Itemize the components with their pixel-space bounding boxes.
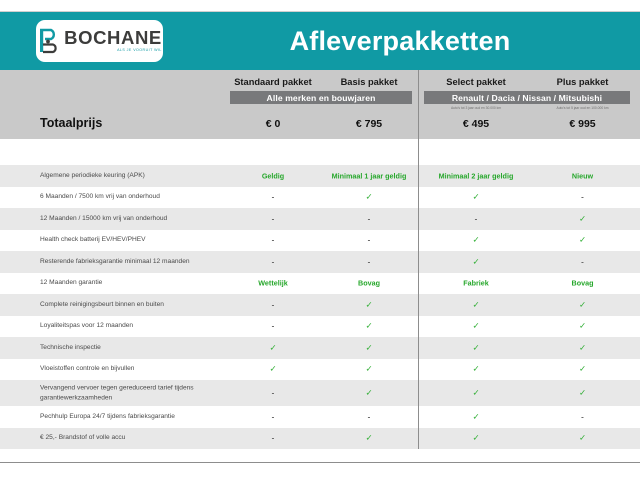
cell-standaard: - xyxy=(225,193,321,202)
cell-select: - xyxy=(422,214,530,223)
logo-wordmark: BOCHANE xyxy=(64,29,162,48)
cell-basis: Minimaal 1 jaar geldig xyxy=(321,171,417,180)
row-label: Loyaliteitspas voor 12 maanden xyxy=(40,321,133,331)
table-row: Technische inspectie✓✓✓✓ xyxy=(0,337,640,359)
cell-basis: Bovag xyxy=(321,279,417,288)
row-label: Health check batterij EV/HEV/PHEV xyxy=(40,235,146,245)
row-label: Resterende fabrieksgarantie minimaal 12 … xyxy=(40,257,190,267)
table-row: Loyaliteitspas voor 12 maanden-✓✓✓ xyxy=(0,316,640,338)
cell-standaard: - xyxy=(225,300,321,309)
cell-standaard: - xyxy=(225,214,321,223)
table-row: Vervangend vervoer tegen gereduceerd tar… xyxy=(0,380,640,406)
table-row: Complete reinigingsbeurt binnen en buite… xyxy=(0,294,640,316)
cell-basis: - xyxy=(321,236,417,245)
table-row: 6 Maanden / 7500 km vrij van onderhoud-✓… xyxy=(0,187,640,209)
cell-standaard: ✓ xyxy=(225,342,321,353)
cell-plus: - xyxy=(530,193,635,202)
cell-select: Minimaal 2 jaar geldig xyxy=(422,171,530,180)
column-note-select: Auto's tot 3 jaar oud en 30.000 km xyxy=(422,106,530,110)
cell-standaard: - xyxy=(225,434,321,443)
row-label: Technische inspectie xyxy=(40,343,101,353)
bochane-mark-icon xyxy=(37,28,59,54)
row-label: Complete reinigingsbeurt binnen en buite… xyxy=(40,300,164,310)
cell-standaard: Geldig xyxy=(225,171,321,180)
logo-tagline: ALS JE VOORUIT WIL xyxy=(117,49,162,53)
totaalprijs-select: € 495 xyxy=(422,118,530,130)
column-header-basis: Basis pakket xyxy=(321,77,417,87)
table-row: Vloeistoffen controle en bijvullen✓✓✓✓ xyxy=(0,359,640,381)
table-row: Pechhulp Europa 24/7 tijdens fabrieksgar… xyxy=(0,406,640,428)
cell-select: Fabriek xyxy=(422,279,530,288)
cell-plus: ✓ xyxy=(530,235,635,246)
page-root: BOCHANE ALS JE VOORUIT WIL Afleverpakket… xyxy=(0,0,640,480)
column-header-select: Select pakket xyxy=(422,77,530,87)
column-note-plus: Auto's tot 5 jaar oud en 100.000 km xyxy=(530,106,635,110)
row-label: Algemene periodieke keuring (APK) xyxy=(40,171,145,181)
column-header-band: Standaard pakket Basis pakket Select pak… xyxy=(0,70,640,139)
group-divider xyxy=(418,70,419,139)
cell-basis: - xyxy=(321,214,417,223)
cell-plus: - xyxy=(530,257,635,266)
table-row: Resterende fabrieksgarantie minimaal 12 … xyxy=(0,251,640,273)
totaalprijs-plus: € 995 xyxy=(530,118,635,130)
sheet-footer xyxy=(0,449,640,463)
group-divider-spacer xyxy=(418,139,419,165)
cell-select: ✓ xyxy=(422,342,530,353)
cell-basis: ✓ xyxy=(321,321,417,332)
group-divider-rows xyxy=(418,165,419,449)
page-title: Afleverpakketten xyxy=(160,26,640,57)
totaalprijs-basis: € 795 xyxy=(321,118,417,130)
totaalprijs-label: Totaalprijs xyxy=(40,116,102,130)
cell-select: ✓ xyxy=(422,411,530,422)
cell-select: ✓ xyxy=(422,388,530,399)
pricing-sheet: BOCHANE ALS JE VOORUIT WIL Afleverpakket… xyxy=(0,11,640,463)
totaalprijs-standaard: € 0 xyxy=(225,118,321,130)
cell-basis: - xyxy=(321,412,417,421)
band-spacer xyxy=(0,139,640,165)
cell-basis: - xyxy=(321,257,417,266)
cell-basis: ✓ xyxy=(321,192,417,203)
cell-standaard: Wettelijk xyxy=(225,279,321,288)
cell-basis: ✓ xyxy=(321,433,417,444)
cell-plus: ✓ xyxy=(530,342,635,353)
cell-basis: ✓ xyxy=(321,388,417,399)
cell-standaard: - xyxy=(225,322,321,331)
cell-plus: ✓ xyxy=(530,321,635,332)
cell-plus: ✓ xyxy=(530,433,635,444)
cell-select: ✓ xyxy=(422,433,530,444)
table-row: 12 Maanden garantieWettelijkBovagFabriek… xyxy=(0,273,640,295)
table-row: Health check batterij EV/HEV/PHEV--✓✓ xyxy=(0,230,640,252)
cell-select: ✓ xyxy=(422,364,530,375)
row-label: 12 Maanden / 15000 km vrij van onderhoud xyxy=(40,214,167,224)
table-row: € 25,- Brandstof of volle accu-✓✓✓ xyxy=(0,428,640,450)
cell-standaard: ✓ xyxy=(225,364,321,375)
row-label: Vloeistoffen controle en bijvullen xyxy=(40,364,134,374)
cell-plus: ✓ xyxy=(530,388,635,399)
cell-select: ✓ xyxy=(422,256,530,267)
group-bar-renault-dacia-nissan-mitsubishi: Renault / Dacia / Nissan / Mitsubishi xyxy=(424,91,630,104)
logo: BOCHANE ALS JE VOORUIT WIL xyxy=(36,20,163,62)
cell-basis: ✓ xyxy=(321,364,417,375)
row-label: 12 Maanden garantie xyxy=(40,278,102,288)
cell-select: ✓ xyxy=(422,192,530,203)
cell-plus: Bovag xyxy=(530,279,635,288)
column-header-standaard: Standaard pakket xyxy=(225,77,321,87)
row-label: € 25,- Brandstof of volle accu xyxy=(40,433,125,443)
cell-basis: ✓ xyxy=(321,299,417,310)
cell-plus: ✓ xyxy=(530,213,635,224)
cell-plus: Nieuw xyxy=(530,171,635,180)
feature-rows: Algemene periodieke keuring (APK)GeldigM… xyxy=(0,165,640,449)
cell-standaard: - xyxy=(225,412,321,421)
cell-select: ✓ xyxy=(422,235,530,246)
cell-standaard: - xyxy=(225,257,321,266)
column-header-plus: Plus pakket xyxy=(530,77,635,87)
table-row: 12 Maanden / 15000 km vrij van onderhoud… xyxy=(0,208,640,230)
row-label: Pechhulp Europa 24/7 tijdens fabrieksgar… xyxy=(40,412,175,422)
page-header: BOCHANE ALS JE VOORUIT WIL Afleverpakket… xyxy=(0,12,640,70)
cell-plus: - xyxy=(530,412,635,421)
cell-plus: ✓ xyxy=(530,364,635,375)
cell-standaard: - xyxy=(225,236,321,245)
group-bar-alle-merken: Alle merken en bouwjaren xyxy=(230,91,412,104)
cell-basis: ✓ xyxy=(321,342,417,353)
cell-plus: ✓ xyxy=(530,299,635,310)
table-row: Algemene periodieke keuring (APK)GeldigM… xyxy=(0,165,640,187)
cell-standaard: - xyxy=(225,389,321,398)
cell-select: ✓ xyxy=(422,321,530,332)
cell-select: ✓ xyxy=(422,299,530,310)
row-label: Vervangend vervoer tegen gereduceerd tar… xyxy=(40,383,240,402)
row-label: 6 Maanden / 7500 km vrij van onderhoud xyxy=(40,192,160,202)
